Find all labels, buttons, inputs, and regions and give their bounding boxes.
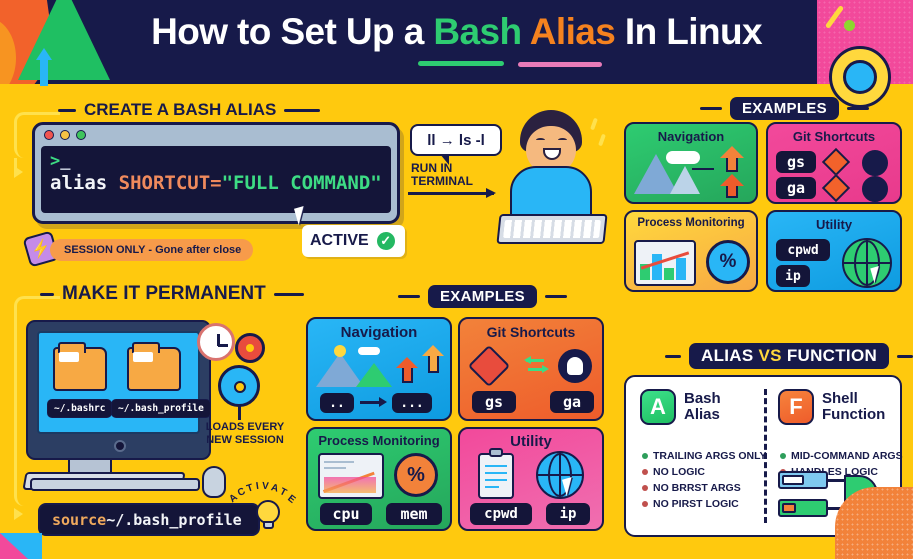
avf-right-header: F Shell Function [778, 389, 885, 425]
percent-gear-icon: % [394, 453, 438, 497]
example-card-utility-top[interactable]: Utility cpwd ip [766, 210, 902, 292]
card-title: Utility [768, 217, 900, 232]
activate-char-6: T [278, 486, 289, 499]
list-item: MID-COMMAND ARGS [780, 448, 903, 464]
examples-mid-heading: EXAMPLES [398, 285, 567, 308]
ex-rule-left [398, 295, 420, 298]
speech-bubble-text: ll → ls -l [427, 132, 485, 149]
keyboard-base [30, 478, 200, 491]
mountain-icon-small [356, 363, 392, 387]
terminal-body[interactable]: >_ alias SHORTCUT="FULL COMMAND" [41, 146, 391, 213]
heading-rule-left [58, 109, 76, 112]
folder-icon-bashprofile [127, 347, 181, 391]
chart-icon [318, 453, 384, 499]
example-card-git-top[interactable]: Git Shortcuts gs ga [766, 122, 902, 204]
terminal-command-line: alias SHORTCUT="FULL COMMAND" [50, 170, 382, 196]
card-title: Utility [460, 433, 602, 450]
bullet-dot [642, 485, 648, 491]
git-icon-1 [822, 148, 850, 176]
keyboard-icon [496, 214, 607, 244]
bullet-dot [642, 501, 648, 507]
mountain-icon-small [670, 166, 700, 194]
avf-heading-function: FUNCTION [782, 346, 877, 365]
infographic-root: How to Set Up a Bash Alias In Linux CREA… [0, 0, 913, 559]
folder-label-bashprofile: ~/.bash_profile [111, 399, 211, 418]
shell-function-title: Shell Function [822, 391, 885, 423]
folder-label-bashrc: ~/.bashrc [47, 399, 112, 418]
run-in-terminal-label: RUN IN TERMINAL [411, 162, 473, 188]
permanent-section-heading: MAKE IT PERMANENT [40, 283, 304, 305]
title-part-2: In Linux [615, 11, 762, 52]
bullet-text: NO LOGIC [653, 464, 705, 480]
loads-label-line2: NEW SESSION [190, 434, 300, 447]
list-item: NO BRRST ARGS [642, 480, 767, 496]
session-only-text: SESSION ONLY - Gone after close [64, 244, 241, 256]
title-part-1: How to Set Up a [151, 11, 433, 52]
title-underline-pink [518, 62, 602, 67]
minimize-dot-icon[interactable] [60, 130, 70, 140]
loads-label-line1: LOADS EVERY [190, 421, 300, 434]
shell-function-title-l1: Shell [822, 391, 885, 407]
mouse-icon [202, 466, 226, 498]
avf-rule-left [665, 355, 681, 358]
arrow-head [379, 397, 387, 407]
sun-icon [334, 345, 346, 357]
card-title: Process Monitoring [626, 217, 756, 229]
heading-rule-right [274, 293, 304, 296]
flow-tick-1 [14, 158, 17, 172]
alias-vs-function-heading: ALIAS VS FUNCTION [665, 343, 913, 369]
cloud-icon [358, 347, 380, 355]
maximize-dot-icon[interactable] [76, 130, 86, 140]
card-title: Git Shortcuts [460, 324, 602, 340]
bash-alias-title: Bash Alias [684, 391, 721, 423]
alias-chip-ga: ga [550, 391, 594, 413]
example-card-navigation-top[interactable]: Navigation [624, 122, 758, 204]
person-eye-left [536, 138, 545, 142]
up-arrow-icon-2 [428, 353, 439, 373]
ex-rule-right [545, 295, 567, 298]
bullet-dot [780, 453, 786, 459]
list-item: NO PIRST LOGIC [642, 496, 767, 512]
activate-char-4: V [262, 481, 269, 492]
alias-chip-cpwd: cpwd [776, 239, 830, 261]
page-title: How to Set Up a Bash Alias In Linux [0, 11, 913, 53]
examples-top-heading-text: EXAMPLES [730, 97, 839, 120]
avf-heading-alias: ALIAS [701, 346, 759, 365]
alias-chip-mem: mem [386, 503, 442, 525]
gear-icon-red [235, 333, 265, 363]
example-card-navigation-mid[interactable]: Navigation .. ... [306, 317, 452, 421]
flow-arrow-2 [14, 508, 23, 520]
check-circle-icon: ✓ [375, 230, 397, 252]
computer-monitor-illustration: ~/.bashrc ~/.bash_profile [26, 320, 211, 460]
card-title: Navigation [626, 129, 756, 144]
source-path: ~/.bash_profile [106, 511, 241, 529]
alias-chip-cpu: cpu [320, 503, 372, 525]
alias-chip-ga: ga [776, 177, 816, 199]
sparkle-deco-2 [598, 134, 606, 147]
monitor-power-led [114, 440, 126, 452]
title-space [521, 11, 529, 52]
speech-bubble: ll → ls -l [410, 124, 502, 156]
list-item: NO LOGIC [642, 464, 767, 480]
up-arrow-head-1 [396, 357, 418, 368]
github-icon-1 [862, 150, 888, 176]
alias-chip-ip: ip [546, 503, 590, 525]
loads-every-session-label: LOADS EVERY NEW SESSION [190, 421, 300, 447]
corner-pink-deco [0, 533, 28, 559]
card-title: Process Monitoring [308, 433, 450, 448]
cloud-icon [666, 151, 700, 164]
chart-icon [634, 240, 696, 286]
git-icon-2 [822, 174, 850, 202]
bullet-dot [642, 469, 648, 475]
github-icon-2 [862, 176, 888, 202]
person-eye-right [558, 138, 567, 142]
bullet-text: NO BRRST ARGS [653, 480, 741, 496]
alias-chip-gs: gs [776, 151, 816, 173]
run-arrow-icon [408, 192, 494, 195]
ex-rule-left [700, 107, 722, 110]
arrow-shaft [360, 401, 380, 404]
up-arrow-head-2 [720, 174, 744, 186]
up-arrow-head-2 [422, 345, 444, 356]
ex-rule-right [847, 107, 869, 110]
git-icon [468, 345, 510, 387]
avf-rule-right [897, 355, 913, 358]
heading-rule-right [284, 109, 320, 112]
activate-char-3: I [255, 481, 259, 492]
example-card-utility-mid[interactable]: Utility cpwd ip [458, 427, 604, 531]
up-arrow-head-1 [720, 146, 744, 158]
examples-top-heading: EXAMPLES [700, 97, 869, 120]
cmd-keyword: alias [50, 172, 107, 194]
terminal-titlebar [35, 125, 397, 144]
close-dot-icon[interactable] [44, 130, 54, 140]
session-only-badge: SESSION ONLY - Gone after close [50, 239, 253, 261]
blue-arrow-head [36, 48, 52, 60]
activate-label: A C T I V A T E [230, 481, 308, 505]
create-section-heading-text: CREATE A BASH ALIAS [84, 100, 276, 120]
example-card-git-mid[interactable]: Git Shortcuts gs ga [458, 317, 604, 421]
list-item: TRAILING ARGS ONLY [642, 448, 767, 464]
alias-chip-gs: gs [472, 391, 516, 413]
card-title: Git Shortcuts [768, 129, 900, 144]
bash-alias-title-l2: Alias [684, 407, 721, 423]
example-card-process-top[interactable]: Process Monitoring % [624, 210, 758, 292]
run-label-line2: TERMINAL [411, 175, 473, 188]
alias-chip-dotdotdot: ... [392, 393, 432, 413]
arrow-connector [692, 168, 714, 170]
shell-function-title-l2: Function [822, 407, 885, 423]
bash-alias-tile-icon: A [640, 389, 676, 425]
shell-function-tile-icon: F [778, 389, 814, 425]
examples-mid-heading-text: EXAMPLES [428, 285, 537, 308]
person-illustration [498, 110, 606, 260]
prompt-cursor: _ [60, 151, 70, 171]
gear-icon-blue [218, 365, 260, 407]
active-badge: ACTIVE ✓ [302, 225, 405, 257]
terminal-prompt-line: >_ [50, 152, 382, 170]
clipboard-icon [478, 453, 514, 499]
create-section-heading: CREATE A BASH ALIAS [58, 100, 320, 120]
card-title: Navigation [308, 324, 450, 341]
swap-arrows-icon [526, 357, 548, 375]
sparkle-deco-1 [590, 118, 598, 131]
active-badge-text: ACTIVE [310, 232, 369, 250]
connector-line [238, 406, 241, 420]
bash-alias-bullets: TRAILING ARGS ONLY NO LOGIC NO BRRST ARG… [642, 448, 767, 512]
avf-heading-pill: ALIAS VS FUNCTION [689, 343, 889, 369]
bash-alias-title-l1: Bash [684, 391, 721, 407]
header-banner: How to Set Up a Bash Alias In Linux [0, 0, 913, 84]
title-alias: Alias [530, 11, 615, 52]
title-underline-green [418, 61, 504, 66]
clock-icon [197, 323, 235, 361]
source-keyword: source [52, 511, 106, 529]
bullet-dot [642, 453, 648, 459]
permanent-section-heading-text: MAKE IT PERMANENT [62, 283, 266, 305]
example-card-process-mid[interactable]: Process Monitoring % cpu mem [306, 427, 452, 531]
alias-chip-cpwd: cpwd [470, 503, 532, 525]
bullet-text: NO PIRST LOGIC [653, 496, 739, 512]
prompt-symbol: > [50, 151, 60, 171]
avf-heading-vs: VS [759, 346, 782, 365]
percent-gear-icon: % [706, 240, 750, 284]
corner-orange-deco [835, 487, 913, 559]
cmd-variable: SHORTCUT= [107, 172, 221, 194]
source-command-bar[interactable]: source ~/.bash_profile [38, 503, 260, 536]
monitor-screen: ~/.bashrc ~/.bash_profile [37, 331, 200, 434]
terminal-window[interactable]: >_ alias SHORTCUT="FULL COMMAND" [32, 122, 400, 224]
avf-left-header: A Bash Alias [640, 389, 721, 425]
bullet-text: TRAILING ARGS ONLY [653, 448, 767, 464]
blue-arrow-shaft [40, 56, 48, 86]
globe-icon [842, 238, 892, 288]
bullet-text: MID-COMMAND ARGS [791, 448, 903, 464]
alias-chip-ip: ip [776, 265, 810, 287]
activate-char-2: T [245, 482, 254, 494]
cmd-value: "FULL COMMAND" [222, 172, 382, 194]
github-icon [558, 349, 592, 383]
folder-icon-bashrc [53, 347, 107, 391]
alias-chip-dotdot: .. [320, 393, 354, 413]
activate-char-7: E [285, 493, 297, 506]
title-bash: Bash [433, 11, 521, 52]
